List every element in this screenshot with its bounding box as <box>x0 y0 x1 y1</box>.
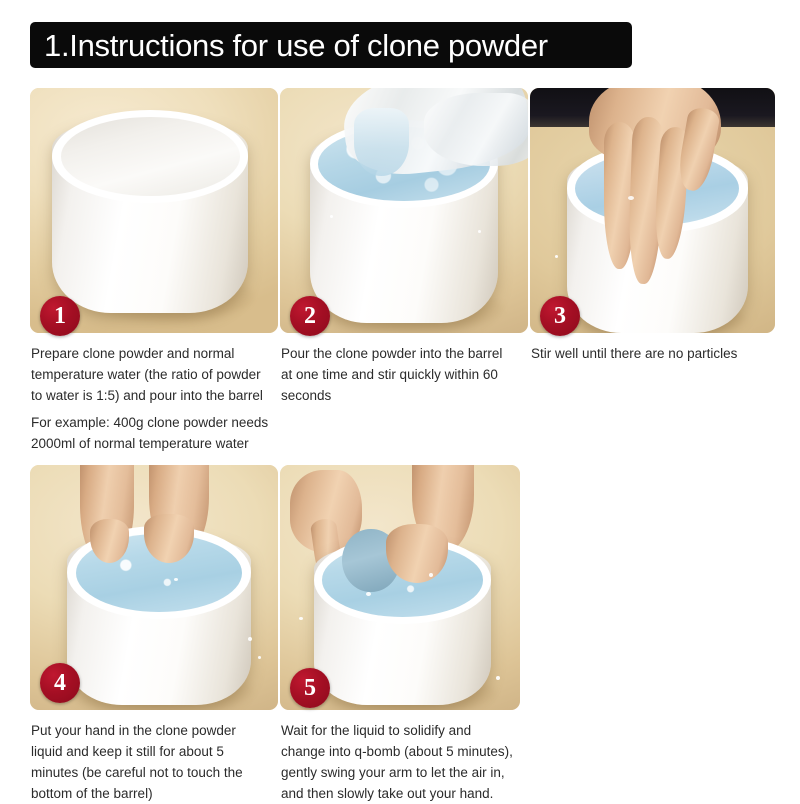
step-5-caption: Wait for the liquid to solidify and chan… <box>281 720 546 804</box>
step-3-caption: Stir well until there are no particles <box>531 343 781 364</box>
liquid-droplet <box>496 676 500 680</box>
liquid-droplet <box>174 578 178 581</box>
step-badge-2-number: 2 <box>304 304 316 328</box>
liquid-droplet <box>248 637 252 641</box>
step-badge-3-number: 3 <box>554 304 566 328</box>
step-badge-5: 5 <box>290 668 330 708</box>
step-1-caption: Prepare clone powder and normal temperat… <box>31 343 281 406</box>
step-badge-4-number: 4 <box>54 671 66 695</box>
liquid-droplet <box>555 255 558 258</box>
step-badge-4: 4 <box>40 663 80 703</box>
step-2-caption: Pour the clone powder into the barrel at… <box>281 343 536 406</box>
page-title-bar: 1.Instructions for use of clone powder <box>30 22 632 68</box>
page-title: 1.Instructions for use of clone powder <box>44 30 548 61</box>
scene-pouring-powder <box>280 88 528 333</box>
liquid-droplet <box>628 196 634 200</box>
step-badge-5-number: 5 <box>304 676 316 700</box>
step-badge-3: 3 <box>540 296 580 336</box>
scene-empty-barrel <box>30 88 278 333</box>
step-photo-pouring-powder <box>280 88 528 333</box>
powder-stream <box>354 108 409 177</box>
step-4-caption: Put your hand in the clone powder liquid… <box>31 720 281 804</box>
barrel-interior-empty <box>61 117 240 195</box>
step-1-caption-example: For example: 400g clone powder needs 200… <box>31 412 281 454</box>
liquid-droplet <box>429 573 433 577</box>
step-photo-empty-barrel <box>30 88 278 333</box>
powder-bag-fold <box>424 93 528 167</box>
step-badge-1: 1 <box>40 296 80 336</box>
step-badge-2: 2 <box>290 296 330 336</box>
step-badge-1-number: 1 <box>54 304 66 328</box>
